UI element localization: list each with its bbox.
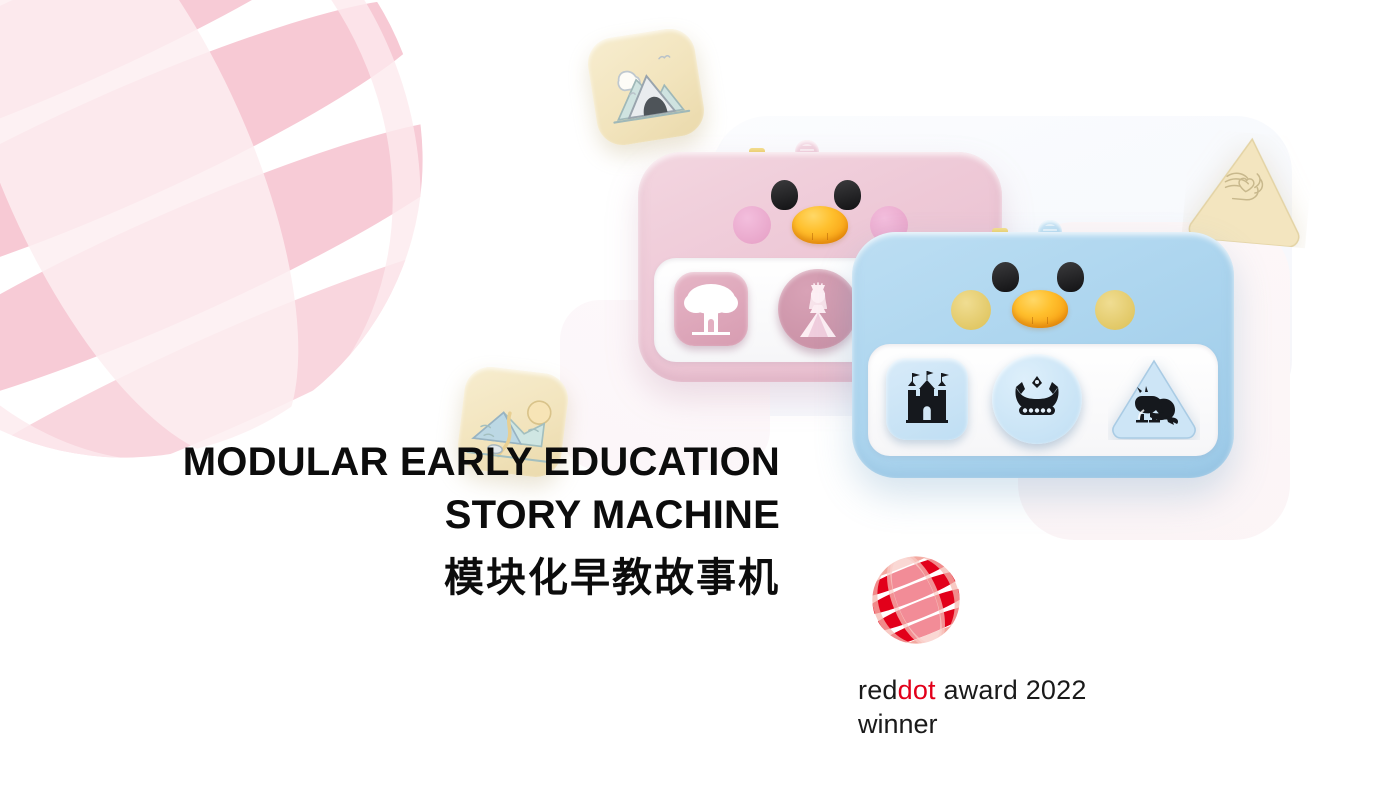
blue-story-machine[interactable] [852,232,1234,478]
headline-line-1: MODULAR EARLY EDUCATION [60,436,780,489]
award-text-block: reddot award 2022 winner [858,675,1087,740]
blue-eye-left [992,262,1019,292]
headline-line-2: STORY MACHINE [60,489,780,542]
award-suffix: award 2022 [936,675,1087,705]
pink-eye-right [834,180,861,210]
pink-beak [792,206,848,244]
blue-eye-right [1057,262,1084,292]
tree-house-icon [674,272,748,346]
award-title: reddot award 2022 [858,675,1087,706]
mountain-cave-icon [584,25,708,149]
mountain-cave-card[interactable] [584,25,708,149]
triangle-card-shape [1181,128,1314,248]
award-winner-label: winner [858,709,1087,740]
blue-cheek-right [1095,290,1135,330]
blue-module-tray [868,344,1218,456]
blue-module-dragon[interactable] [1108,356,1200,440]
pink-module-tree-house[interactable] [674,272,748,346]
reddot-globe-watermark [0,0,435,470]
blue-module-castle[interactable] [886,358,968,440]
reddot-award-badge: reddot award 2022 winner [858,552,1087,740]
pink-module-princess[interactable] [778,269,858,349]
blue-beak [1012,290,1068,328]
award-brand-dot: dot [898,675,936,705]
headline-chinese: 模块化早教故事机 [60,548,780,608]
pink-eye-left [771,180,798,210]
pink-cheek-left [733,206,771,244]
helping-hands-card[interactable] [1181,128,1314,248]
award-brand-red: red [858,675,898,705]
castle-icon [886,358,968,440]
blue-cheek-left [951,290,991,330]
presentation-canvas: MODULAR EARLY EDUCATION STORY MACHINE 模块… [0,0,1400,788]
headline-block: MODULAR EARLY EDUCATION STORY MACHINE 模块… [60,436,780,608]
reddot-globe-logo [868,552,964,648]
triangle-module-shape [1108,356,1200,440]
crown-icon [992,354,1082,444]
blue-module-crown[interactable] [992,354,1082,444]
princess-icon [778,269,858,349]
